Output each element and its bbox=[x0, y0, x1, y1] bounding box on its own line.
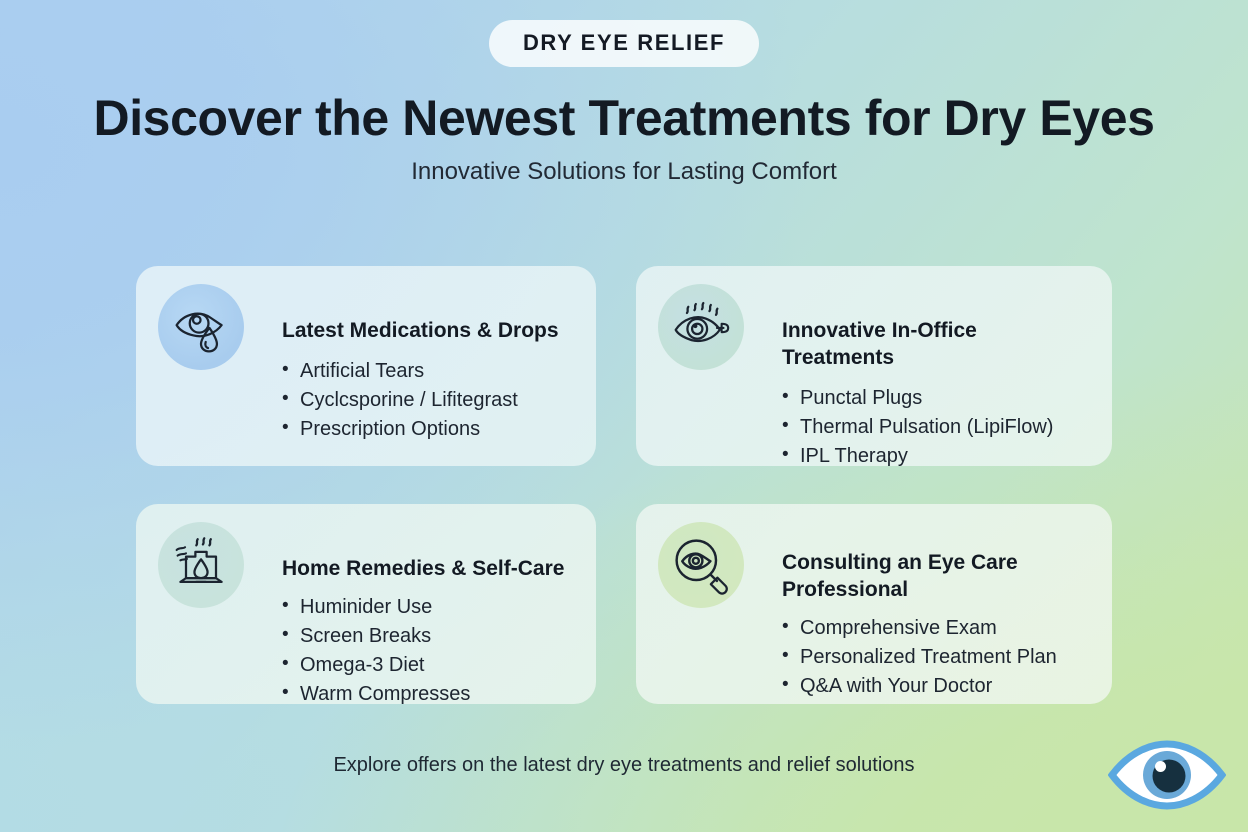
infographic-page: DRY EYE RELIEF Discover the Newest Treat… bbox=[0, 0, 1248, 832]
card-bullet-list: Punctal Plugs Thermal Pulsation (LipiFlo… bbox=[782, 384, 1086, 471]
eye-teardrop-icon bbox=[158, 284, 244, 370]
card-title: Consulting an Eye Care Professional bbox=[782, 528, 1086, 604]
humidifier-laptop-icon bbox=[158, 522, 244, 608]
footer-note: Explore offers on the latest dry eye tre… bbox=[0, 754, 1248, 777]
list-item: Artificial Tears bbox=[282, 357, 570, 386]
card-bullet-list: Artificial Tears Cyclcsporine / Lifitegr… bbox=[282, 357, 570, 444]
cards-grid: Latest Medications & Drops Artificial Te… bbox=[136, 266, 1112, 704]
card-title: Innovative In-Office Treatments bbox=[782, 290, 1086, 372]
page-title: Discover the Newest Treatments for Dry E… bbox=[0, 91, 1248, 146]
eye-logo bbox=[1108, 738, 1226, 812]
list-item: Prescription Options bbox=[282, 415, 570, 444]
list-item: Q&A with Your Doctor bbox=[782, 672, 1086, 701]
list-item: Comprehensive Exam bbox=[782, 614, 1086, 643]
list-item: Punctal Plugs bbox=[782, 384, 1086, 413]
card-bullet-list: Comprehensive Exam Personalized Treatmen… bbox=[782, 614, 1086, 701]
list-item: Screen Breaks bbox=[282, 622, 570, 651]
list-item: Personalized Treatment Plan bbox=[782, 643, 1086, 672]
header: DRY EYE RELIEF Discover the Newest Treat… bbox=[0, 0, 1248, 186]
list-item: Warm Compresses bbox=[282, 680, 570, 709]
card-title: Home Remedies & Self-Care bbox=[282, 528, 570, 583]
list-item: Omega-3 Diet bbox=[282, 651, 570, 680]
list-item: Thermal Pulsation (LipiFlow) bbox=[782, 413, 1086, 442]
page-subtitle: Innovative Solutions for Lasting Comfort bbox=[0, 158, 1248, 186]
list-item: Cyclcsporine / Lifitegrast bbox=[282, 386, 570, 415]
category-badge: DRY EYE RELIEF bbox=[489, 20, 759, 67]
magnifier-eye-icon bbox=[658, 522, 744, 608]
card-bullet-list: Huminider Use Screen Breaks Omega-3 Diet… bbox=[282, 593, 570, 709]
eye-device-treatment-icon bbox=[658, 284, 744, 370]
card-in-office-treatments: Innovative In-Office Treatments Punctal … bbox=[636, 266, 1112, 466]
card-title: Latest Medications & Drops bbox=[282, 290, 570, 345]
card-consulting-professional: Consulting an Eye Care Professional Comp… bbox=[636, 504, 1112, 704]
card-latest-medications: Latest Medications & Drops Artificial Te… bbox=[136, 266, 596, 466]
card-home-remedies: Home Remedies & Self-Care Huminider Use … bbox=[136, 504, 596, 704]
list-item: IPL Therapy bbox=[782, 442, 1086, 471]
list-item: Huminider Use bbox=[282, 593, 570, 622]
